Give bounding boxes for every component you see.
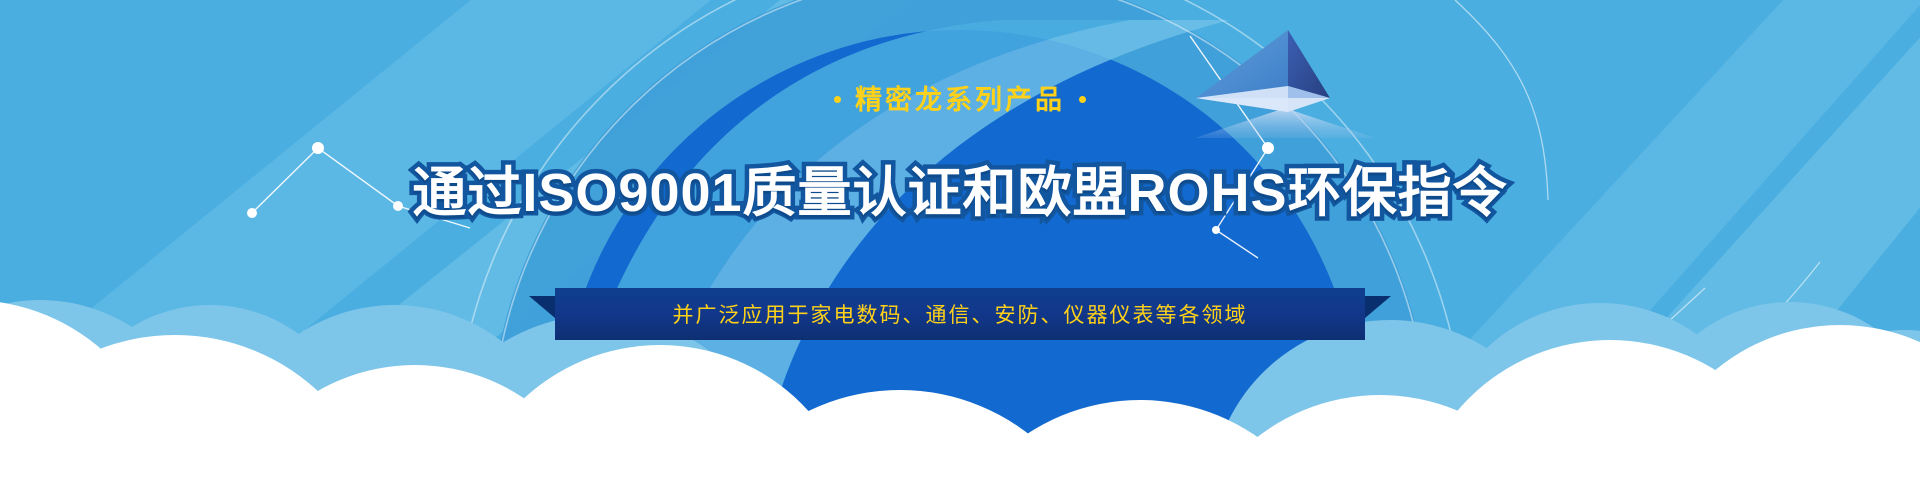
banner-background xyxy=(0,0,1920,480)
eyebrow-text: 精密龙系列产品 xyxy=(855,85,1065,115)
subtitle-ribbon: 并广泛应用于家电数码、通信、安防、仪器仪表等各领域 xyxy=(555,288,1365,340)
bullet-dot-left-icon xyxy=(834,96,841,103)
ribbon-fold-right-icon xyxy=(1365,296,1391,318)
ribbon-body: 并广泛应用于家电数码、通信、安防、仪器仪表等各领域 xyxy=(555,288,1365,340)
headline-text: 通过ISO9001质量认证和欧盟ROHS环保指令 xyxy=(0,148,1920,227)
ribbon-fold-left-icon xyxy=(529,296,555,318)
subtitle-text: 并广泛应用于家电数码、通信、安防、仪器仪表等各领域 xyxy=(673,299,1248,329)
promo-banner: 精密龙系列产品 通过ISO9001质量认证和欧盟ROHS环保指令 并广泛应用于家… xyxy=(0,0,1920,480)
bullet-dot-right-icon xyxy=(1079,96,1086,103)
eyebrow-heading: 精密龙系列产品 xyxy=(0,78,1920,117)
